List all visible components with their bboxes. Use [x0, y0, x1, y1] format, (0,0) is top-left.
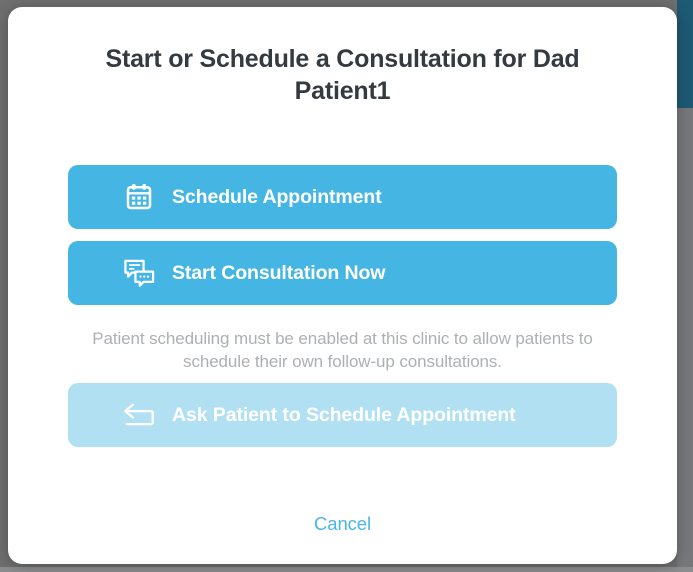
consultation-dialog: Start or Schedule a Consultation for Dad…: [8, 7, 677, 564]
patient-scheduling-note: Patient scheduling must be enabled at th…: [80, 327, 605, 373]
dialog-footer: Cancel: [8, 512, 677, 536]
page-title: Start or Schedule a Consultation for Dad…: [8, 7, 677, 107]
background-right-strip: [677, 108, 693, 572]
schedule-appointment-label: Schedule Appointment: [172, 186, 382, 209]
dialog-body: Schedule Appointment Start Consultation …: [8, 165, 677, 447]
start-consultation-button[interactable]: Start Consultation Now: [68, 241, 617, 305]
cancel-button[interactable]: Cancel: [308, 512, 377, 536]
reply-arrow-icon: [122, 400, 156, 430]
ask-patient-to-schedule-label: Ask Patient to Schedule Appointment: [172, 404, 516, 427]
chat-bubbles-icon: [122, 258, 156, 288]
schedule-appointment-button[interactable]: Schedule Appointment: [68, 165, 617, 229]
background-header-bar: [677, 0, 693, 108]
calendar-icon: [122, 182, 156, 212]
ask-patient-to-schedule-button[interactable]: Ask Patient to Schedule Appointment: [68, 383, 617, 447]
start-consultation-label: Start Consultation Now: [172, 262, 385, 285]
background-bottom-strip: [0, 567, 693, 572]
